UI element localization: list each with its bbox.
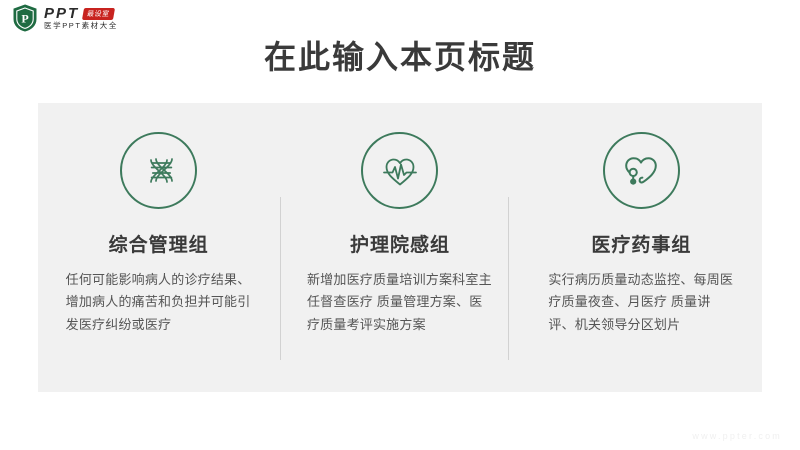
content-panel: 综合管理组 任何可能影响病人的诊疗结果、增加病人的痛苦和负担并可能引发医疗纠纷或… [38,103,762,392]
icon-circle-1 [120,132,197,209]
content-column-3: 医疗药事组 实行病历质量动态监控、每周医疗质量夜查、月医疗 质量讲评、机关领导分… [521,103,762,392]
column-body-3: 实行病历质量动态监控、每周医疗质量夜查、月医疗 质量讲评、机关领导分区划片 [548,269,734,336]
footer-watermark: www.ppter.com [692,431,782,441]
page-title: 在此输入本页标题 [0,38,800,76]
icon-circle-3 [603,132,680,209]
column-title-1: 综合管理组 [109,235,209,258]
shield-icon: P [12,4,38,32]
icon-circle-2 [361,132,438,209]
column-body-2: 新增加医疗质量培训方案科室主任督查医疗 质量管理方案、医疗质量考评实施方案 [307,269,493,336]
content-column-1: 综合管理组 任何可能影响病人的诊疗结果、增加病人的痛苦和负担并可能引发医疗纠纷或… [38,103,279,392]
column-title-2: 护理院感组 [350,235,450,258]
logo-brand-text: PPT [44,6,79,21]
heart-ecg-icon [378,149,422,193]
content-column-2: 护理院感组 新增加医疗质量培训方案科室主任督查医疗 质量管理方案、医疗质量考评实… [279,103,520,392]
logo-badge: 最设室 [82,8,115,20]
svg-text:P: P [21,12,28,26]
stethoscope-heart-icon [619,149,663,193]
column-title-3: 医疗药事组 [591,235,691,258]
brand-logo: P PPT 最设室 医学PPT素材大全 [12,4,118,32]
column-body-1: 任何可能影响病人的诊疗结果、增加病人的痛苦和负担并可能引发医疗纠纷或医疗 [66,269,252,336]
logo-subtitle: 医学PPT素材大全 [44,22,118,30]
dna-icon [138,150,180,192]
